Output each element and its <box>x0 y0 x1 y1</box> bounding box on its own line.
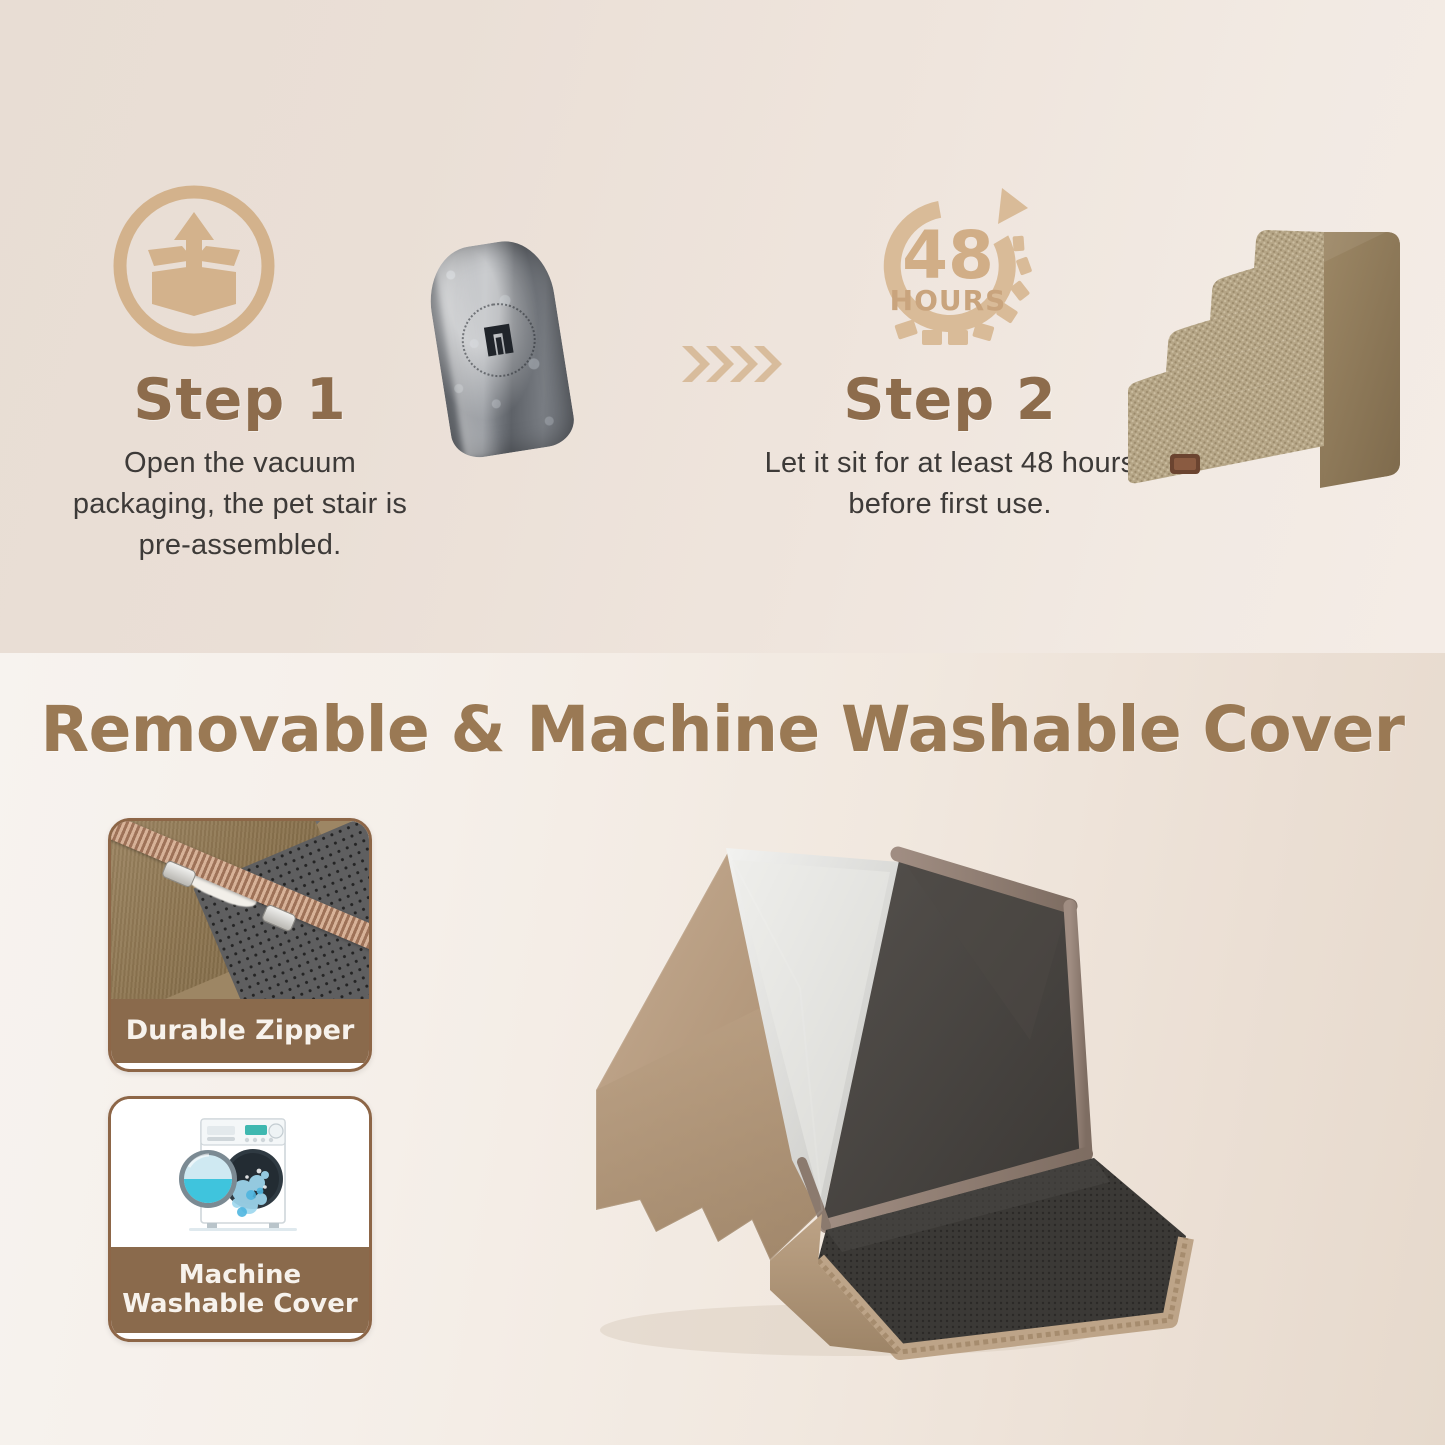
step-1-description: Open the vacuum packaging, the pet stair… <box>20 443 460 567</box>
brand-logo-icon <box>476 317 522 363</box>
page-title: Removable & Machine Washable Cover <box>0 693 1445 766</box>
feature-card-machine-washable[interactable]: Machine Washable Cover <box>108 1096 372 1342</box>
step-2-title: Step 2 <box>735 372 1165 429</box>
step-2-block: Step 2 Let it sit for at least 48 hours … <box>735 372 1165 525</box>
pet-stair-5-step <box>1128 212 1424 512</box>
steps-section: Step 1 Open the vacuum packaging, the pe… <box>0 0 1445 653</box>
washing-machine-illustration <box>111 1099 369 1247</box>
step-1-title: Step 1 <box>20 372 460 429</box>
zipper-photo <box>111 821 369 999</box>
pet-stair-cover-peeled <box>470 790 1230 1370</box>
48-hours-icon: 48 HOURS <box>852 186 1048 350</box>
product-infographic-page: Step 1 Open the vacuum packaging, the pe… <box>0 0 1445 1445</box>
hours-label: HOURS <box>890 284 1007 317</box>
card-label-durable-zipper: Durable Zipper <box>111 999 369 1063</box>
step-1-block: Step 1 Open the vacuum packaging, the pe… <box>20 372 460 567</box>
step-2-description: Let it sit for at least 48 hours before … <box>735 443 1165 525</box>
washable-cover-section: Removable & Machine Washable Cover Durab… <box>0 653 1445 1445</box>
feature-card-durable-zipper[interactable]: Durable Zipper <box>108 818 372 1072</box>
card-label-machine-washable: Machine Washable Cover <box>111 1247 369 1333</box>
open-box-arrow-icon <box>108 180 280 352</box>
washing-machine-icon <box>165 1113 315 1233</box>
48-label: 48 <box>902 217 994 294</box>
